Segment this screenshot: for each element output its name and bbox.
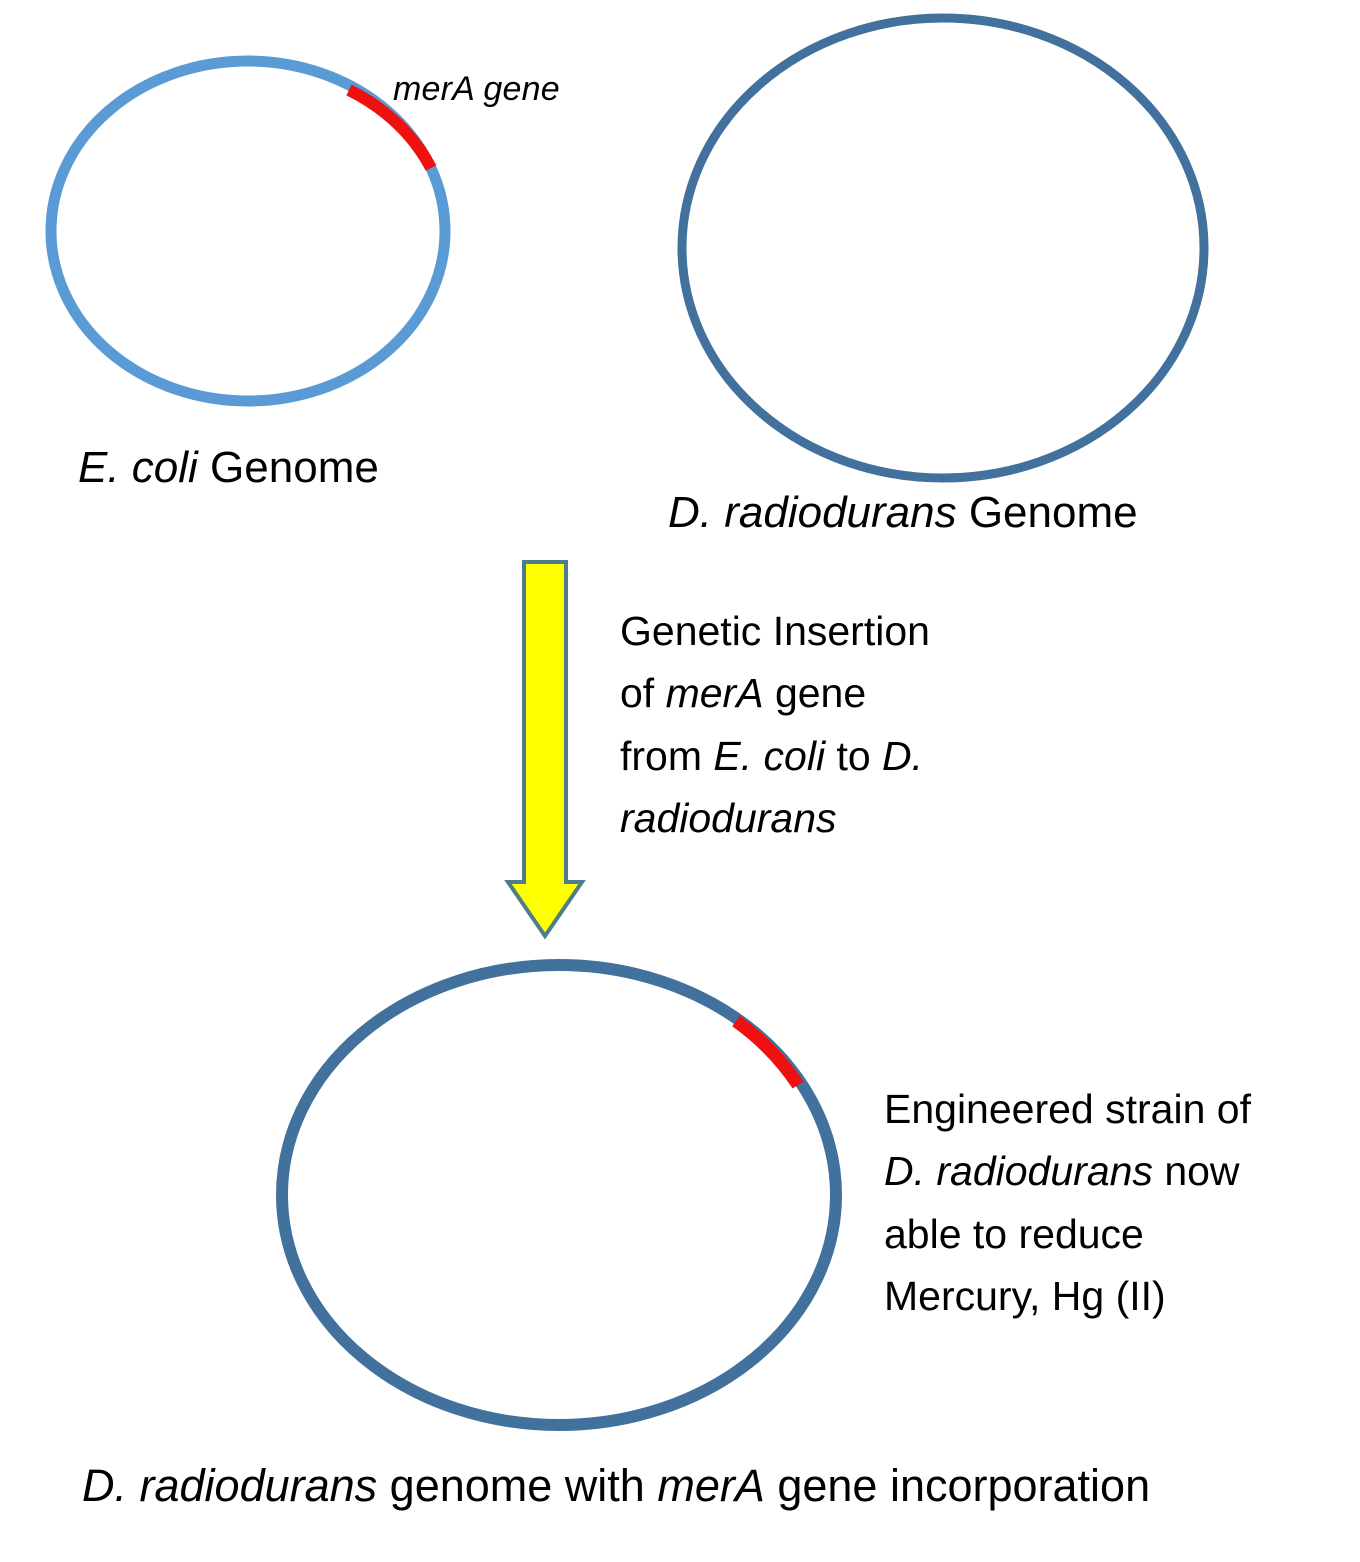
insertion-note-line2-suffix: gene <box>764 670 867 716</box>
mera-gene-label: merA gene <box>393 68 560 112</box>
insertion-note-line2-prefix: of <box>620 670 666 716</box>
engineered-note-line3: able to reduce <box>884 1211 1144 1257</box>
ecoli-genome-label: E. coli Genome <box>78 440 379 496</box>
bottom-caption: D. radiodurans genome with merA gene inc… <box>82 1457 1150 1515</box>
radiodurans-genome-label-species: D. radiodurans <box>668 488 957 537</box>
insertion-note-line3-mid: to <box>825 733 882 779</box>
engineered-note-line2-suffix: now <box>1153 1148 1240 1194</box>
radiodurans-genome-circle <box>682 18 1204 478</box>
engineered-note-species: D. radiodurans <box>884 1148 1153 1194</box>
ecoli-genome-label-word: Genome <box>198 443 379 492</box>
ecoli-genome-ring <box>51 61 445 401</box>
ecoli-genome-label-species: E. coli <box>78 443 198 492</box>
bottom-caption-gene: merA <box>657 1460 765 1511</box>
bottom-caption-species: D. radiodurans <box>82 1460 377 1511</box>
bottom-caption-mid: genome with <box>377 1460 657 1511</box>
downward-process-arrow <box>508 562 582 936</box>
engineered-mera-gene-segment <box>736 1021 798 1085</box>
bottom-caption-tail: gene incorporation <box>765 1460 1150 1511</box>
insertion-note: Genetic Insertionof merA genefrom E. col… <box>620 600 1050 849</box>
insertion-note-line1: Genetic Insertion <box>620 608 930 654</box>
engineered-note: Engineered strain ofD. radiodurans nowab… <box>884 1078 1336 1327</box>
genetic-insertion-diagram: merA gene E. coli Genome D. radiodurans … <box>0 0 1360 1562</box>
radiodurans-genome-ring <box>682 18 1204 478</box>
radiodurans-genome-label: D. radiodurans Genome <box>668 485 1138 541</box>
arrow-shape <box>508 562 582 936</box>
insertion-note-gene-name: merA <box>666 670 764 716</box>
insertion-note-source-species: E. coli <box>713 733 825 779</box>
ecoli-genome-circle <box>51 61 445 401</box>
engineered-note-line1: Engineered strain of <box>884 1086 1251 1132</box>
radiodurans-genome-label-word: Genome <box>957 488 1138 537</box>
engineered-genome-ring <box>282 965 836 1425</box>
insertion-note-line3-prefix: from <box>620 733 713 779</box>
engineered-note-line4: Mercury, Hg (II) <box>884 1273 1166 1319</box>
engineered-genome-circle <box>282 965 836 1425</box>
